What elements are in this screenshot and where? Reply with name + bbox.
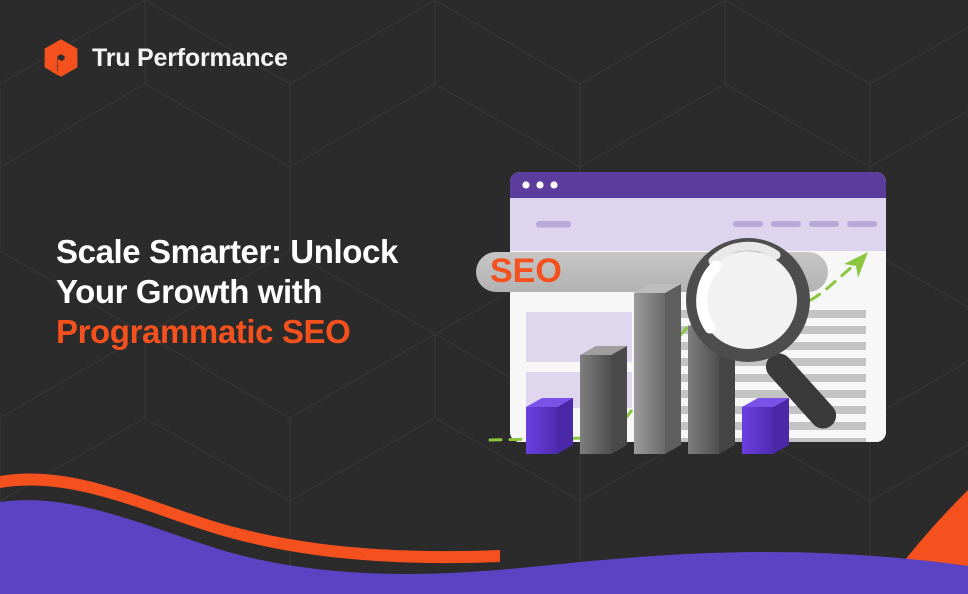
seo-marketing-banner: Tru Performance Scale Smarter: Unlock Yo… [0, 0, 968, 594]
window-dot-close[interactable] [522, 181, 529, 188]
nav-menu-item-4[interactable] [847, 221, 877, 227]
window-dot-maximize[interactable] [550, 181, 557, 188]
window-dot-minimize[interactable] [536, 181, 543, 188]
seo-illustration: SEO [470, 160, 910, 480]
nav-menu-item-3[interactable] [809, 221, 839, 227]
nav-logo-bar [536, 221, 571, 228]
brand-logo-lockup[interactable]: Tru Performance [42, 38, 288, 78]
nav-menu-item-2[interactable] [771, 221, 801, 227]
headline-line-2: Your Growth with [56, 272, 476, 312]
headline-block: Scale Smarter: Unlock Your Growth with P… [56, 232, 476, 352]
chart-bar-2 [580, 346, 627, 454]
chart-bar-1 [526, 398, 573, 454]
headline-line-3-accent: Programmatic SEO [56, 312, 476, 352]
search-query-text: SEO [490, 252, 562, 290]
hexagon-p-logomark [42, 38, 80, 78]
chart-bar-3 [634, 284, 681, 454]
wave-purple [0, 500, 968, 594]
chart-bar-5 [742, 398, 789, 454]
browser-titlebar [510, 172, 886, 198]
nav-menu-item-1[interactable] [733, 221, 763, 227]
headline-line-1: Scale Smarter: Unlock [56, 232, 476, 272]
brand-wordmark: Tru Performance [92, 44, 288, 73]
